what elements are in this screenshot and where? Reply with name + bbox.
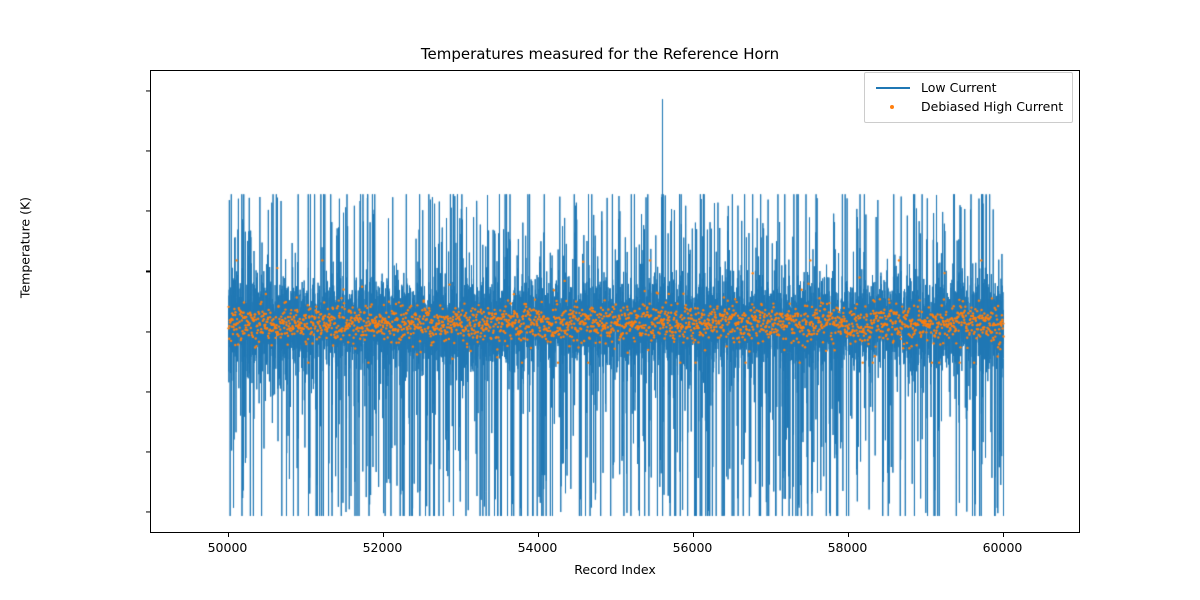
- x-tick-mark: [228, 533, 229, 537]
- x-tick-label: 56000: [633, 540, 753, 555]
- y-tick-mark: [146, 511, 150, 512]
- legend-line-swatch-icon: [874, 81, 912, 95]
- y-tick-mark: [146, 151, 150, 152]
- plot-area: [150, 70, 1080, 533]
- y-tick-mark: [146, 271, 150, 272]
- x-tick-label: 54000: [478, 540, 598, 555]
- x-tick-label: 52000: [323, 540, 443, 555]
- x-tick-mark: [538, 533, 539, 537]
- legend-label: Debiased High Current: [921, 99, 1063, 114]
- figure-canvas: Temperatures measured for the Reference …: [0, 0, 1200, 600]
- x-tick-mark: [1003, 533, 1004, 537]
- legend-item-low-current[interactable]: Low Current: [874, 78, 1063, 97]
- chart-title: Temperatures measured for the Reference …: [0, 45, 1200, 63]
- y-tick-mark: [146, 451, 150, 452]
- x-tick-mark: [693, 533, 694, 537]
- x-tick-label: 50000: [168, 540, 288, 555]
- plot-canvas: [151, 71, 1080, 533]
- x-tick-mark: [383, 533, 384, 537]
- y-tick-mark: [146, 391, 150, 392]
- x-axis-label: Record Index: [150, 562, 1080, 577]
- x-tick-mark: [848, 533, 849, 537]
- y-tick-mark: [146, 90, 150, 91]
- chart-legend: Low Current Debiased High Current: [864, 72, 1073, 123]
- y-axis-label: Temperature (K): [18, 18, 33, 478]
- x-tick-label: 58000: [788, 540, 908, 555]
- legend-label: Low Current: [921, 80, 997, 95]
- y-tick-mark: [146, 211, 150, 212]
- legend-dot-swatch-icon: [874, 100, 912, 114]
- x-tick-label: 60000: [943, 540, 1063, 555]
- legend-item-debiased-high-current[interactable]: Debiased High Current: [874, 97, 1063, 116]
- y-tick-mark: [146, 331, 150, 332]
